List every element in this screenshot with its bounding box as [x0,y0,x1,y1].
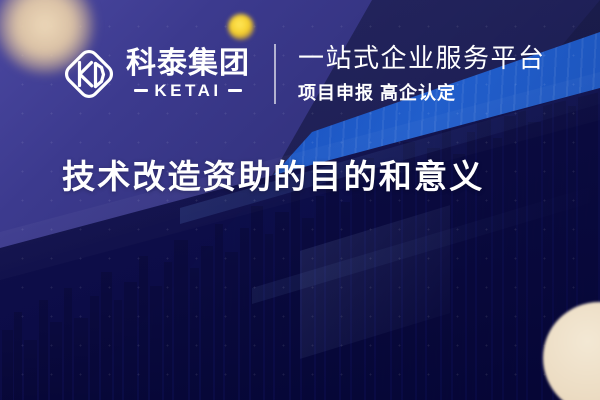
tagline-sub: 项目申报 高企认定 [298,79,546,105]
banner-header: 科泰集团 KETAI 一站式企业服务平台 项目申报 高企认定 [62,38,546,110]
translucent-plate [300,205,450,359]
wordmark-dash-right-icon [228,89,242,92]
brand-name-en: KETAI [154,82,221,99]
yellow-glow-dot-icon [228,14,254,40]
ketai-diamond-kd-logo-icon[interactable] [62,47,116,101]
wordmark-dash-left-icon [134,89,148,92]
promo-banner: 科泰集团 KETAI 一站式企业服务平台 项目申报 高企认定 技术改造资助的目的… [0,0,600,400]
brand-wordmark: 科泰集团 KETAI [126,49,250,100]
page-title: 技术改造资助的目的和意义 [62,157,484,197]
brand-name-en-row: KETAI [126,82,250,99]
cream-circle-icon [543,302,600,400]
header-divider [274,44,276,104]
tagline-block: 一站式企业服务平台 项目申报 高企认定 [298,43,546,105]
brand-name-cn: 科泰集团 [126,49,250,80]
tagline-main: 一站式企业服务平台 [298,43,546,74]
